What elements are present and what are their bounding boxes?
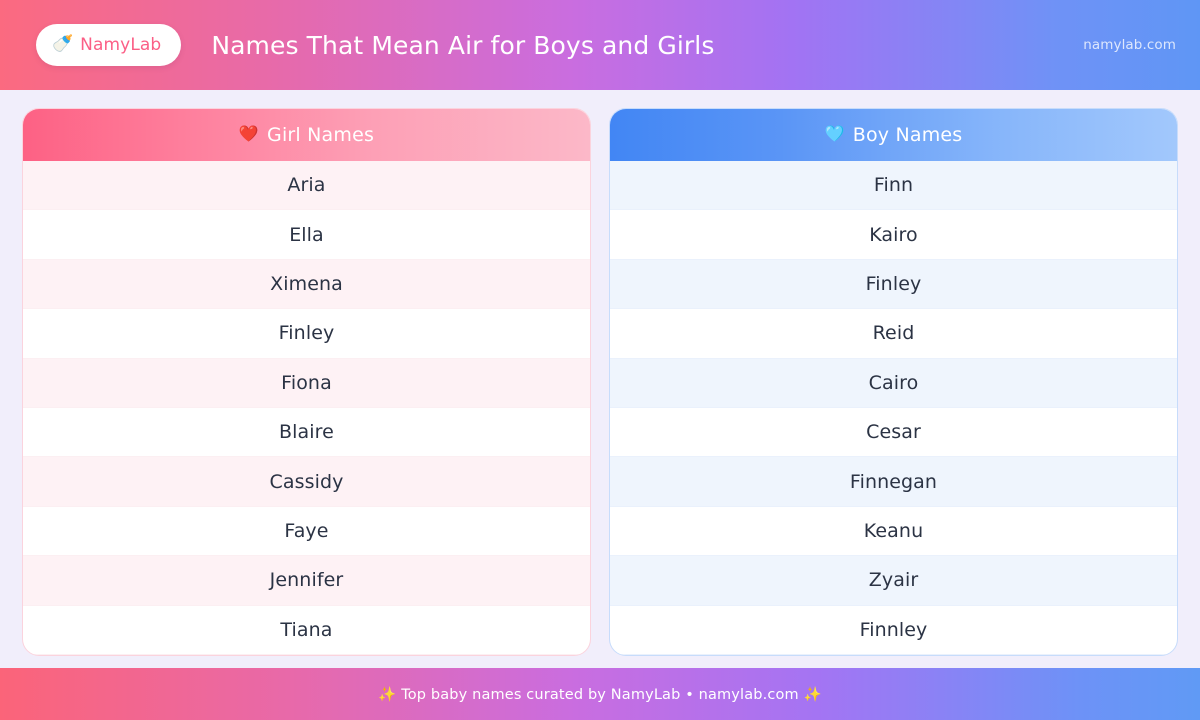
boy-names-heading-label: Boy Names bbox=[853, 124, 963, 146]
list-item[interactable]: Tiana bbox=[23, 606, 590, 655]
header-website-url: namylab.com bbox=[1083, 37, 1176, 53]
page-header: 🍼 NamyLab Names That Mean Air for Boys a… bbox=[0, 0, 1200, 90]
red-heart-icon: ❤️ bbox=[239, 126, 259, 142]
page-title: Names That Mean Air for Boys and Girls bbox=[211, 31, 714, 60]
list-item[interactable]: Finn bbox=[610, 161, 1177, 210]
footer-credit-label: ✨ Top baby names curated by NamyLab • na… bbox=[378, 686, 822, 703]
girl-names-heading-label: Girl Names bbox=[267, 124, 374, 146]
list-item[interactable]: Cassidy bbox=[23, 457, 590, 506]
name-lists-container: ❤️ Girl Names Aria Ella Ximena Finley Fi… bbox=[0, 90, 1200, 668]
list-item[interactable]: Faye bbox=[23, 507, 590, 556]
list-item[interactable]: Cairo bbox=[610, 359, 1177, 408]
list-item[interactable]: Finley bbox=[23, 309, 590, 358]
list-item[interactable]: Reid bbox=[610, 309, 1177, 358]
list-item[interactable]: Jennifer bbox=[23, 556, 590, 605]
list-item[interactable]: Blaire bbox=[23, 408, 590, 457]
list-item[interactable]: Keanu bbox=[610, 507, 1177, 556]
brand-logo-badge[interactable]: 🍼 NamyLab bbox=[36, 24, 181, 66]
list-item[interactable]: Zyair bbox=[610, 556, 1177, 605]
list-item[interactable]: Finnley bbox=[610, 606, 1177, 655]
list-item[interactable]: Kairo bbox=[610, 210, 1177, 259]
boy-names-card: 🩵 Boy Names Finn Kairo Finley Reid Cairo… bbox=[609, 108, 1178, 656]
list-item[interactable]: Fiona bbox=[23, 359, 590, 408]
brand-name-label: NamyLab bbox=[80, 35, 161, 55]
girl-names-card: ❤️ Girl Names Aria Ella Ximena Finley Fi… bbox=[22, 108, 591, 656]
list-item[interactable]: Finley bbox=[610, 260, 1177, 309]
girl-names-list: Aria Ella Ximena Finley Fiona Blaire Cas… bbox=[23, 161, 590, 655]
boy-names-list: Finn Kairo Finley Reid Cairo Cesar Finne… bbox=[610, 161, 1177, 655]
list-item[interactable]: Aria bbox=[23, 161, 590, 210]
list-item[interactable]: Finnegan bbox=[610, 457, 1177, 506]
baby-bottle-icon: 🍼 bbox=[52, 36, 73, 53]
light-blue-heart-icon: 🩵 bbox=[825, 126, 845, 142]
page-footer: ✨ Top baby names curated by NamyLab • na… bbox=[0, 668, 1200, 720]
list-item[interactable]: Cesar bbox=[610, 408, 1177, 457]
girl-names-card-header: ❤️ Girl Names bbox=[23, 109, 590, 161]
list-item[interactable]: Ella bbox=[23, 210, 590, 259]
list-item[interactable]: Ximena bbox=[23, 260, 590, 309]
boy-names-card-header: 🩵 Boy Names bbox=[610, 109, 1177, 161]
